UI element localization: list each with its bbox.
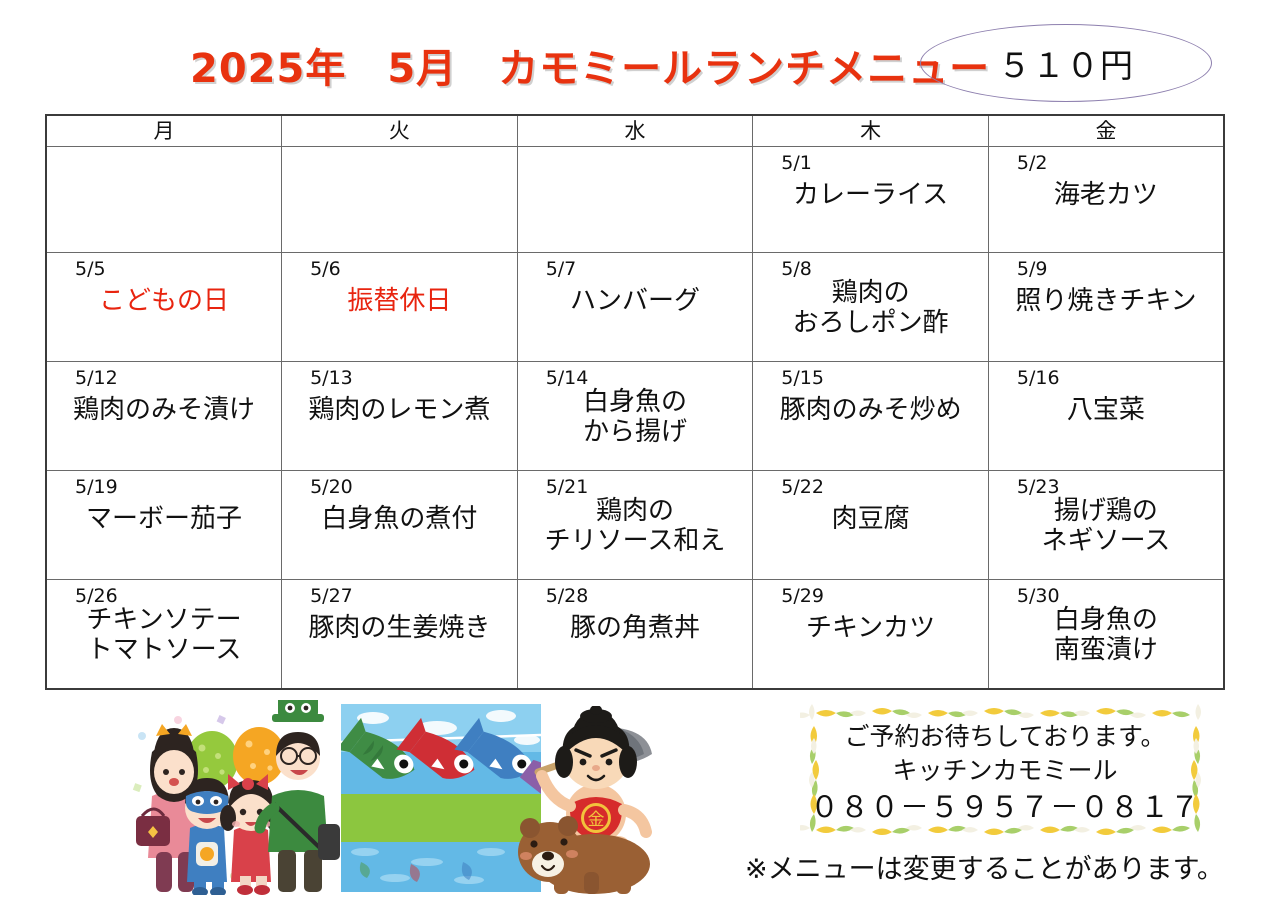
cell-date-label: 5/22 <box>781 476 824 498</box>
menu-calendar-table: 月 火 水 木 金 5/1カレーライス5/2海老カツ5/5こどもの日5/6振替休… <box>45 114 1225 690</box>
menu-calendar-container: 月 火 水 木 金 5/1カレーライス5/2海老カツ5/5こどもの日5/6振替休… <box>45 114 1225 690</box>
cell-date-label: 5/28 <box>546 585 589 607</box>
menu-change-disclaimer: ※メニューは変更することがあります。 <box>745 847 1224 886</box>
menu-cell: 5/13鶏肉のレモン煮 <box>282 362 518 471</box>
cell-date-label: 5/9 <box>1017 258 1048 280</box>
weekday-header-wed: 水 <box>517 115 753 147</box>
menu-line: 海老カツ <box>993 181 1219 211</box>
cell-date-label: 5/12 <box>75 367 118 389</box>
cell-menu-label: 照り焼きチキン <box>989 287 1223 317</box>
menu-line: 鶏肉の <box>522 497 749 527</box>
menu-cell: 5/29チキンカツ <box>753 580 989 690</box>
menu-cell: 5/6振替休日 <box>282 253 518 362</box>
menu-line: チキンソテー <box>51 606 277 636</box>
menu-cell: 5/9照り焼きチキン <box>988 253 1224 362</box>
cell-date-label: 5/5 <box>75 258 106 280</box>
menu-line: カレーライス <box>757 181 984 211</box>
cell-menu-label: 白身魚の煮付 <box>282 505 517 535</box>
kintaro-riding-bear-illustration: 金 <box>512 706 692 896</box>
menu-line: 白身魚の <box>522 388 749 418</box>
page-header: 2025年 5月 カモミールランチメニュー ５１０円 <box>0 0 1280 112</box>
menu-line: 鶏肉のみそ漬け <box>51 396 277 426</box>
menu-line: 豚肉の生姜焼き <box>286 614 513 644</box>
cell-date-label: 5/14 <box>546 367 589 389</box>
menu-line: ハンバーグ <box>522 287 749 317</box>
table-header: 月 火 水 木 金 <box>46 115 1224 147</box>
menu-cell: 5/14白身魚のから揚げ <box>517 362 753 471</box>
cell-menu-label: 海老カツ <box>989 181 1223 211</box>
cell-menu-label: 揚げ鶏のネギソース <box>989 497 1223 557</box>
table-row: 5/1カレーライス5/2海老カツ <box>46 147 1224 253</box>
menu-cell: 5/1カレーライス <box>753 147 989 253</box>
family-with-balloons-illustration <box>122 700 342 895</box>
table-row: 5/5こどもの日5/6振替休日5/7ハンバーグ5/8鶏肉のおろしポン酢5/9照り… <box>46 253 1224 362</box>
table-row: 5/19マーボー茄子5/20白身魚の煮付5/21鶏肉のチリソース和え5/22肉豆… <box>46 471 1224 580</box>
cell-date-label: 5/30 <box>1017 585 1060 607</box>
menu-cell: 5/22肉豆腐 <box>753 471 989 580</box>
menu-line: こどもの日 <box>51 287 277 317</box>
cell-menu-label: 豚肉の生姜焼き <box>282 614 517 644</box>
menu-line: 振替休日 <box>286 287 513 317</box>
menu-line: チリソース和え <box>522 527 749 557</box>
reservation-contact-box: ご予約お待ちしております。 キッチンカモミール ０８０－５９５７－０８１７ <box>800 704 1210 842</box>
cell-menu-label: チキンソテートマトソース <box>47 606 281 666</box>
cell-menu-label: 肉豆腐 <box>753 505 988 535</box>
menu-line: 豚の角煮丼 <box>522 614 749 644</box>
koinobori-carp-streamers-illustration <box>341 702 541 892</box>
menu-cell: 5/5こどもの日 <box>46 253 282 362</box>
cell-date-label: 5/8 <box>781 258 812 280</box>
cell-date-label: 5/20 <box>310 476 353 498</box>
menu-cell: 5/16八宝菜 <box>988 362 1224 471</box>
menu-line: 肉豆腐 <box>757 505 984 535</box>
menu-cell: 5/27豚肉の生姜焼き <box>282 580 518 690</box>
menu-line: ネギソース <box>993 527 1219 557</box>
weekday-header-row: 月 火 水 木 金 <box>46 115 1224 147</box>
cell-date-label: 5/26 <box>75 585 118 607</box>
menu-line: 照り焼きチキン <box>993 287 1219 317</box>
menu-line: 白身魚の煮付 <box>286 505 513 535</box>
menu-cell: 5/30白身魚の南蛮漬け <box>988 580 1224 690</box>
menu-line: おろしポン酢 <box>757 309 984 339</box>
cell-date-label: 5/13 <box>310 367 353 389</box>
cell-menu-label: カレーライス <box>753 181 988 211</box>
menu-cell: 5/19マーボー茄子 <box>46 471 282 580</box>
menu-line: から揚げ <box>522 418 749 448</box>
menu-line: 鶏肉の <box>757 279 984 309</box>
cell-date-label: 5/29 <box>781 585 824 607</box>
cell-menu-label: 白身魚の南蛮漬け <box>989 606 1223 666</box>
cell-date-label: 5/7 <box>546 258 577 280</box>
cell-menu-label: チキンカツ <box>753 614 988 644</box>
cell-date-label: 5/16 <box>1017 367 1060 389</box>
cell-date-label: 5/15 <box>781 367 824 389</box>
empty-cell <box>282 147 518 253</box>
cell-menu-label: 鶏肉のおろしポン酢 <box>753 279 988 339</box>
cell-menu-label: 豚肉のみそ炒め <box>753 396 988 426</box>
cell-date-label: 5/23 <box>1017 476 1060 498</box>
cell-date-label: 5/19 <box>75 476 118 498</box>
shop-name: キッチンカモミール <box>892 755 1117 786</box>
page-title: 2025年 5月 カモミールランチメニュー <box>190 36 990 94</box>
menu-cell: 5/15豚肉のみそ炒め <box>753 362 989 471</box>
menu-cell: 5/28豚の角煮丼 <box>517 580 753 690</box>
menu-line: 豚肉のみそ炒め <box>757 396 984 426</box>
cell-date-label: 5/1 <box>781 152 812 174</box>
menu-line: 白身魚の <box>993 606 1219 636</box>
cell-menu-label: 白身魚のから揚げ <box>518 388 753 448</box>
menu-cell: 5/21鶏肉のチリソース和え <box>517 471 753 580</box>
cell-menu-label: 鶏肉のみそ漬け <box>47 396 281 426</box>
reservation-message: ご予約お待ちしております。 <box>844 721 1165 752</box>
cell-menu-label: 鶏肉のレモン煮 <box>282 396 517 426</box>
table-body: 5/1カレーライス5/2海老カツ5/5こどもの日5/6振替休日5/7ハンバーグ5… <box>46 147 1224 690</box>
cell-holiday-label: こどもの日 <box>47 287 281 317</box>
empty-cell <box>46 147 282 253</box>
cell-menu-label: マーボー茄子 <box>47 505 281 535</box>
page-footer: 金 <box>0 692 1280 905</box>
menu-cell: 5/7ハンバーグ <box>517 253 753 362</box>
menu-line: 八宝菜 <box>993 396 1219 426</box>
weekday-header-thu: 木 <box>753 115 989 147</box>
cell-date-label: 5/21 <box>546 476 589 498</box>
menu-cell: 5/20白身魚の煮付 <box>282 471 518 580</box>
svg-text:金: 金 <box>588 810 605 830</box>
cell-date-label: 5/6 <box>310 258 341 280</box>
cell-holiday-label: 振替休日 <box>282 287 517 317</box>
price-badge-label: ５１０円 <box>998 39 1134 87</box>
menu-line: チキンカツ <box>757 614 984 644</box>
cell-menu-label: ハンバーグ <box>518 287 753 317</box>
cell-menu-label: 鶏肉のチリソース和え <box>518 497 753 557</box>
menu-line: 南蛮漬け <box>993 636 1219 666</box>
menu-line: 鶏肉のレモン煮 <box>286 396 513 426</box>
menu-cell: 5/8鶏肉のおろしポン酢 <box>753 253 989 362</box>
menu-cell: 5/12鶏肉のみそ漬け <box>46 362 282 471</box>
weekday-header-mon: 月 <box>46 115 282 147</box>
table-row: 5/12鶏肉のみそ漬け5/13鶏肉のレモン煮5/14白身魚のから揚げ5/15豚肉… <box>46 362 1224 471</box>
price-badge: ５１０円 <box>920 24 1212 102</box>
weekday-header-fri: 金 <box>988 115 1224 147</box>
menu-line: トマトソース <box>51 636 277 666</box>
table-row: 5/26チキンソテートマトソース5/27豚肉の生姜焼き5/28豚の角煮丼5/29… <box>46 580 1224 690</box>
cell-date-label: 5/27 <box>310 585 353 607</box>
phone-number: ０８０－５９５７－０８１７ <box>810 789 1200 825</box>
menu-cell: 5/26チキンソテートマトソース <box>46 580 282 690</box>
weekday-header-tue: 火 <box>282 115 518 147</box>
cell-menu-label: 豚の角煮丼 <box>518 614 753 644</box>
menu-line: 揚げ鶏の <box>993 497 1219 527</box>
cell-date-label: 5/2 <box>1017 152 1048 174</box>
menu-line: マーボー茄子 <box>51 505 277 535</box>
cell-menu-label: 八宝菜 <box>989 396 1223 426</box>
menu-cell: 5/23揚げ鶏のネギソース <box>988 471 1224 580</box>
empty-cell <box>517 147 753 253</box>
menu-cell: 5/2海老カツ <box>988 147 1224 253</box>
